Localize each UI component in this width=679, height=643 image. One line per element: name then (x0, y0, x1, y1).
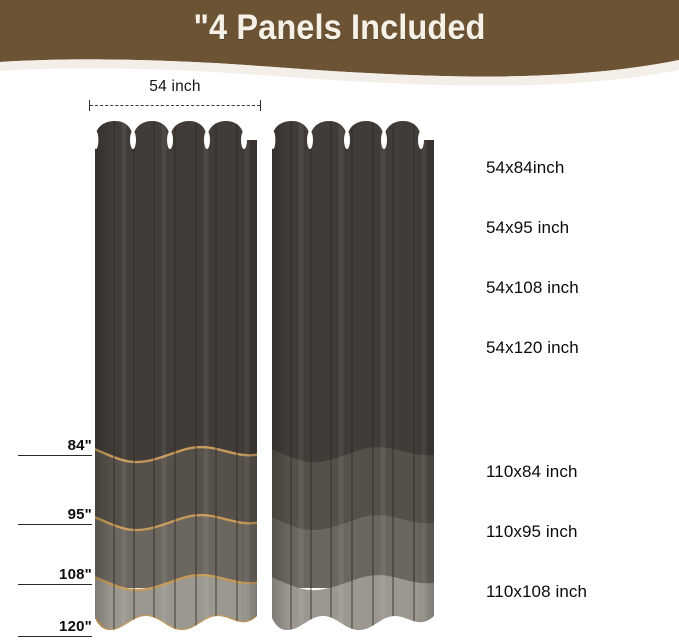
length-tick-120: 120" (18, 618, 92, 637)
curtain-left-graphic (92, 118, 260, 643)
size-option-110x84: 110x84 inch (486, 462, 578, 482)
curtain-left-body (92, 118, 260, 643)
length-tick-95-rule (18, 524, 92, 525)
dimension-cap-right (260, 100, 261, 111)
curtain-panel-left (92, 118, 260, 643)
length-tick-95-label: 95" (68, 506, 92, 523)
length-tick-120-rule (18, 636, 92, 637)
size-option-54x95: 54x95 inch (486, 218, 569, 238)
infographic-canvas: "4 Panels Included 54 inch (0, 0, 679, 643)
size-option-54x108: 54x108 inch (486, 278, 579, 298)
length-tick-84-rule (18, 455, 92, 456)
width-dimension-line (88, 100, 262, 111)
size-option-54x84: 54x84inch (486, 158, 564, 178)
width-dimension-label: 54 inch (88, 78, 262, 96)
length-tick-84: 84" (18, 437, 92, 456)
size-option-54x120: 54x120 inch (486, 338, 579, 358)
dimension-dashed-bar (90, 105, 260, 106)
length-tick-120-label: 120" (59, 618, 92, 635)
length-tick-95: 95" (18, 506, 92, 525)
size-option-110x108: 110x108 inch (486, 582, 587, 602)
curtain-right-body (269, 118, 437, 643)
page-title: "4 Panels Included (24, 2, 655, 54)
length-tick-84-label: 84" (68, 437, 92, 454)
size-option-110x95: 110x95 inch (486, 522, 578, 542)
length-tick-108-rule (18, 584, 92, 585)
width-dimension: 54 inch (88, 78, 262, 106)
length-tick-108-label: 108" (59, 566, 92, 583)
curtain-right-graphic (269, 118, 437, 643)
length-tick-108: 108" (18, 566, 92, 585)
curtain-panel-right (269, 118, 437, 643)
dimension-cap-left (89, 100, 90, 111)
